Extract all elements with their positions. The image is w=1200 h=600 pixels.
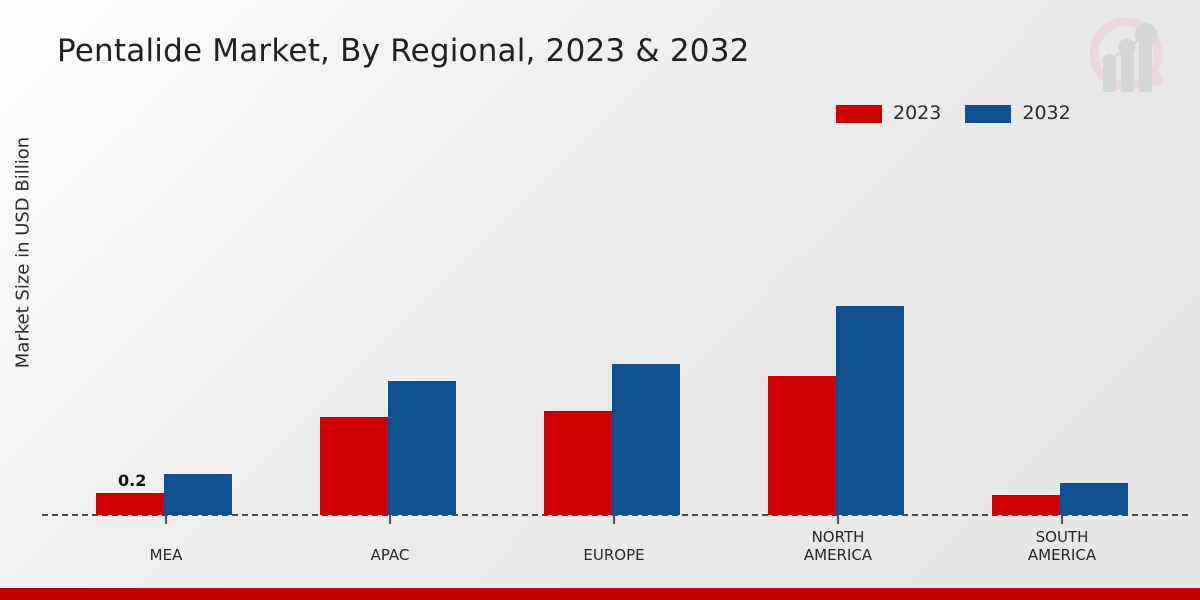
bar-2032-south-america[interactable] <box>1060 483 1128 515</box>
bar-group-north-america: NORTH AMERICA <box>768 0 908 600</box>
bar-2032-apac[interactable] <box>388 381 456 515</box>
plot-area: 0.2 MEA APAC EUROPE <box>0 0 1200 600</box>
bars-apac <box>320 381 456 515</box>
bar-2032-europe[interactable] <box>612 364 680 515</box>
x-tick-north-america <box>837 515 839 524</box>
bars-south-america <box>992 483 1128 515</box>
x-tick-apac <box>389 515 391 524</box>
x-label-north-america-line2: AMERICA <box>804 546 872 564</box>
x-label-europe: EUROPE <box>583 546 644 564</box>
bar-group-europe: EUROPE <box>544 0 684 600</box>
bar-group-south-america: SOUTH AMERICA <box>992 0 1132 600</box>
chart-root: Pentalide Market, By Regional, 2023 & 20… <box>0 0 1200 600</box>
bar-2023-mea[interactable] <box>96 493 164 515</box>
bars-mea <box>96 474 232 515</box>
bar-2023-apac[interactable] <box>320 417 388 515</box>
x-label-south-america-line2: AMERICA <box>1028 546 1096 564</box>
x-tick-mea <box>165 515 167 524</box>
x-label-mea-line1: MEA <box>150 546 183 564</box>
bar-2032-north-america[interactable] <box>836 306 904 515</box>
bar-2032-mea[interactable] <box>164 474 232 515</box>
bar-group-mea: 0.2 MEA <box>96 0 236 600</box>
x-label-apac: APAC <box>371 546 410 564</box>
x-label-europe-line1: EUROPE <box>583 546 644 564</box>
bar-2023-south-america[interactable] <box>992 495 1060 515</box>
bar-2023-europe[interactable] <box>544 411 612 515</box>
x-label-apac-line1: APAC <box>371 546 410 564</box>
bar-2023-north-america[interactable] <box>768 376 836 515</box>
bar-group-apac: APAC <box>320 0 460 600</box>
x-label-south-america-line1: SOUTH <box>1036 528 1089 546</box>
x-label-mea: MEA <box>150 546 183 564</box>
x-label-north-america: NORTH AMERICA <box>804 528 872 564</box>
x-tick-europe <box>613 515 615 524</box>
footer-accent-band <box>0 588 1200 600</box>
bars-north-america <box>768 306 904 515</box>
x-label-south-america: SOUTH AMERICA <box>1028 528 1096 564</box>
value-label-2023-mea: 0.2 <box>118 471 146 490</box>
x-tick-south-america <box>1061 515 1063 524</box>
x-label-north-america-line1: NORTH <box>812 528 865 546</box>
bars-europe <box>544 364 680 515</box>
